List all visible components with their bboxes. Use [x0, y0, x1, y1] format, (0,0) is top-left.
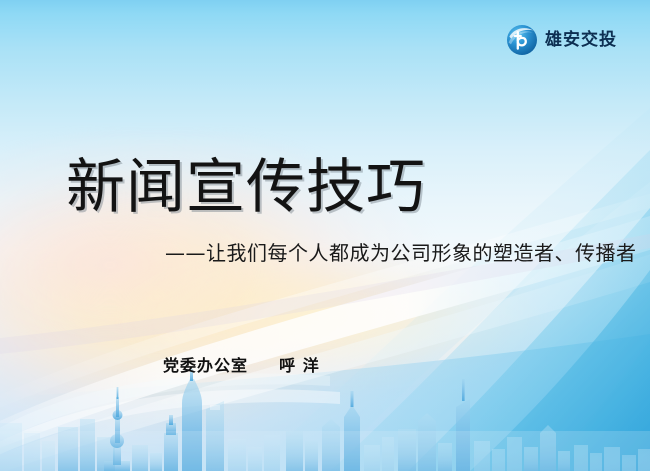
company-logo: 雄安交投 — [506, 24, 617, 56]
page-title: 新闻宣传技巧 — [66, 152, 426, 223]
circular-emblem-icon — [506, 24, 538, 56]
presenter-name: 呼 洋 — [279, 356, 320, 375]
city-skyline-silhouette — [0, 361, 650, 471]
presenter-department: 党委办公室 — [163, 356, 248, 375]
presenter-line: 党委办公室 呼 洋 — [163, 356, 320, 377]
company-name: 雄安交投 — [545, 32, 617, 49]
subtitle: ——让我们每个人都成为公司形象的塑造者、传播者 — [165, 240, 637, 266]
title-slide: 雄安交投 新闻宣传技巧 ——让我们每个人都成为公司形象的塑造者、传播者 党委办公… — [0, 0, 650, 471]
